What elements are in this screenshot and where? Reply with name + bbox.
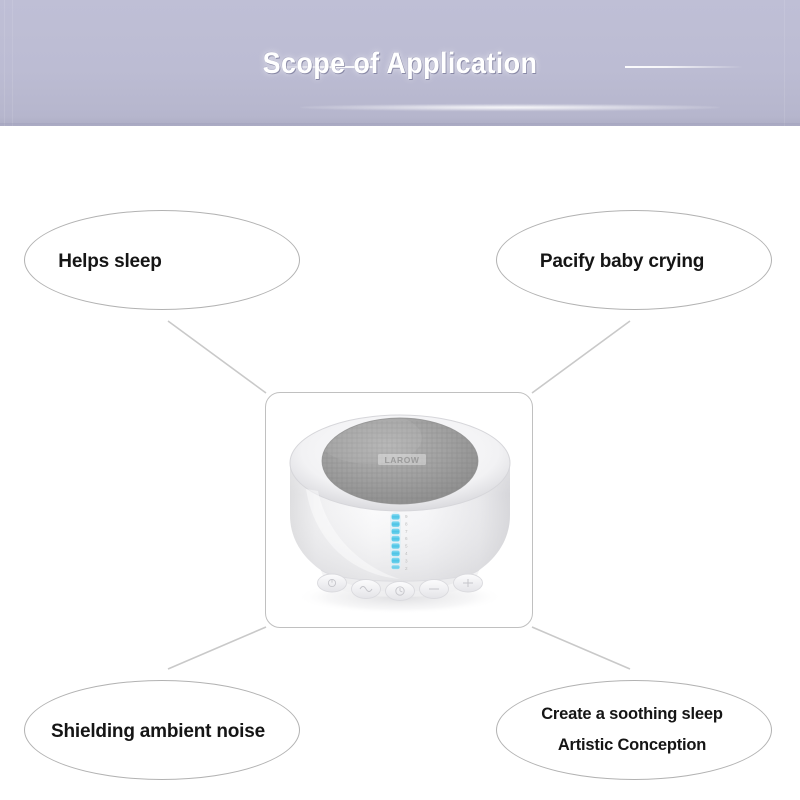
power-button[interactable] — [318, 574, 347, 592]
svg-text:7: 7 — [405, 529, 408, 534]
callout-pacify-baby-crying: Pacify baby crying — [496, 210, 772, 310]
led-segment — [392, 536, 400, 542]
svg-text:3: 3 — [405, 558, 408, 563]
banner-stripe — [12, 0, 13, 126]
scope-of-application-infographic: Scope of Application Helps sleep Pacify … — [0, 0, 800, 800]
svg-text:6: 6 — [405, 536, 408, 541]
led-segment — [392, 558, 400, 564]
svg-text:2: 2 — [405, 566, 408, 571]
header-divider — [0, 123, 800, 126]
svg-text:8: 8 — [405, 521, 408, 526]
product-illustration: LAROW 9 8 7 6 5 — [266, 393, 533, 628]
connector-line-top-right — [532, 321, 630, 393]
banner-stripe — [4, 0, 5, 126]
led-segment — [392, 521, 400, 527]
callout-label: Pacify baby crying — [540, 251, 704, 273]
connector-line-bottom-left — [168, 627, 266, 669]
led-segment — [392, 529, 400, 535]
led-segment — [392, 551, 400, 557]
volume-down-button[interactable] — [420, 580, 449, 599]
brand-logo-text: LAROW — [384, 455, 419, 465]
callout-label-line-2: Artistic Conception — [558, 730, 706, 761]
timer-button[interactable] — [386, 582, 415, 601]
product-image-frame: LAROW 9 8 7 6 5 — [265, 392, 533, 628]
led-segment — [392, 565, 400, 569]
led-segment — [392, 514, 400, 520]
callout-create-soothing-sleep: Create a soothing sleep Artistic Concept… — [496, 680, 772, 780]
svg-text:4: 4 — [405, 551, 408, 556]
callout-label: Helps sleep — [58, 251, 161, 273]
callout-helps-sleep: Helps sleep — [24, 210, 300, 310]
led-segment — [392, 543, 400, 549]
svg-text:5: 5 — [405, 544, 408, 549]
header-banner: Scope of Application — [0, 0, 800, 126]
callout-label: Shielding ambient noise — [51, 721, 265, 743]
light-flare-icon — [300, 104, 720, 111]
callout-shielding-ambient-noise: Shielding ambient noise — [24, 680, 300, 780]
page-title: Scope of Application — [40, 47, 760, 81]
callout-label-line-1: Create a soothing sleep — [541, 699, 723, 730]
connector-line-bottom-right — [532, 627, 630, 669]
svg-text:9: 9 — [405, 514, 408, 519]
volume-up-button[interactable] — [454, 574, 483, 592]
brand-logo-icon: LAROW — [378, 454, 426, 465]
connector-line-top-left — [168, 321, 266, 393]
sound-mode-button[interactable] — [352, 580, 381, 599]
banner-stripe — [784, 0, 785, 126]
